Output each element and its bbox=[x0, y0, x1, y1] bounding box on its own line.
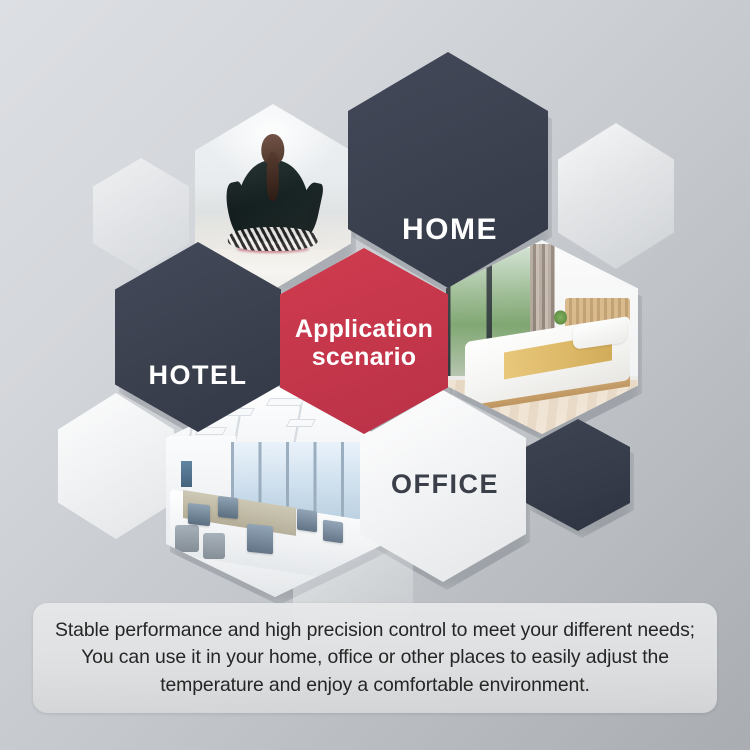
ghost-hexagon-bottom-left bbox=[58, 393, 174, 539]
caption-text: Stable performance and high precision co… bbox=[33, 617, 717, 700]
application-scenario-label-line1: Application bbox=[295, 315, 433, 343]
hotel-label: HOTEL bbox=[149, 360, 248, 390]
application-scenario-label-line2: scenario bbox=[295, 343, 433, 371]
ghost-hexagon-left bbox=[93, 158, 189, 272]
office-label: OFFICE bbox=[391, 469, 499, 499]
caption-panel: Stable performance and high precision co… bbox=[33, 603, 717, 713]
application-scenario-label: Application scenario bbox=[295, 315, 433, 371]
promo-banner: OFFICE HOME HOTEL Application scenario S… bbox=[0, 0, 750, 750]
home-label: HOME bbox=[402, 213, 498, 247]
ghost-hexagon-right bbox=[558, 123, 674, 269]
